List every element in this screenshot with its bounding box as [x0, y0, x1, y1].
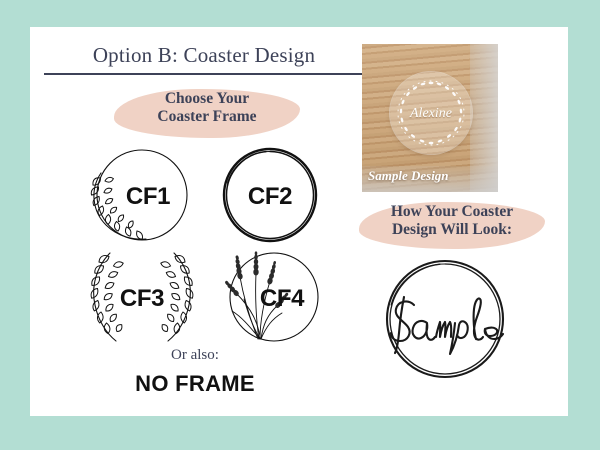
screenshot-root: Option B: Coaster Design Choose Your Coa… — [0, 0, 600, 450]
design-card: Option B: Coaster Design Choose Your Coa… — [30, 27, 568, 416]
how-it-looks-heading-line2: Design Will Look: — [345, 221, 559, 239]
title-underline — [44, 73, 362, 75]
or-also-label: Or also: — [55, 347, 335, 364]
how-it-looks-heading: How Your Coaster Design Will Look: — [345, 203, 559, 239]
coaster-name-text: Alexine — [390, 73, 472, 155]
frame-option-cf1[interactable]: CF1 — [72, 145, 212, 245]
page-title: Option B: Coaster Design — [44, 43, 364, 68]
frame-option-cf2[interactable]: CF2 — [200, 145, 340, 245]
acrylic-coaster-disc: Alexine — [390, 72, 472, 154]
coaster-preview — [370, 255, 520, 385]
frame-option-cf3-label: CF3 — [72, 249, 212, 349]
frame-option-cf4-label: CF4 — [212, 249, 352, 349]
frame-option-cf1-label: CF1 — [78, 147, 218, 247]
how-it-looks-heading-line1: How Your Coaster — [345, 203, 559, 221]
frame-option-cf4[interactable]: CF4 — [200, 247, 340, 347]
photo-caption: Sample Design — [368, 168, 449, 184]
choose-frame-heading-line1: Choose Your — [100, 90, 314, 108]
choose-frame-heading-line2: Coaster Frame — [100, 108, 314, 126]
preview-double-ring-icon — [370, 255, 520, 385]
sample-design-photo: Alexine Sample Design — [362, 44, 498, 192]
frame-option-cf2-label: CF2 — [200, 147, 340, 247]
frame-option-cf3[interactable]: CF3 — [72, 247, 212, 347]
choose-frame-heading: Choose Your Coaster Frame — [100, 90, 314, 126]
no-frame-option[interactable]: NO FRAME — [55, 371, 335, 397]
frame-options-grid: CF1 CF2 — [50, 145, 340, 345]
